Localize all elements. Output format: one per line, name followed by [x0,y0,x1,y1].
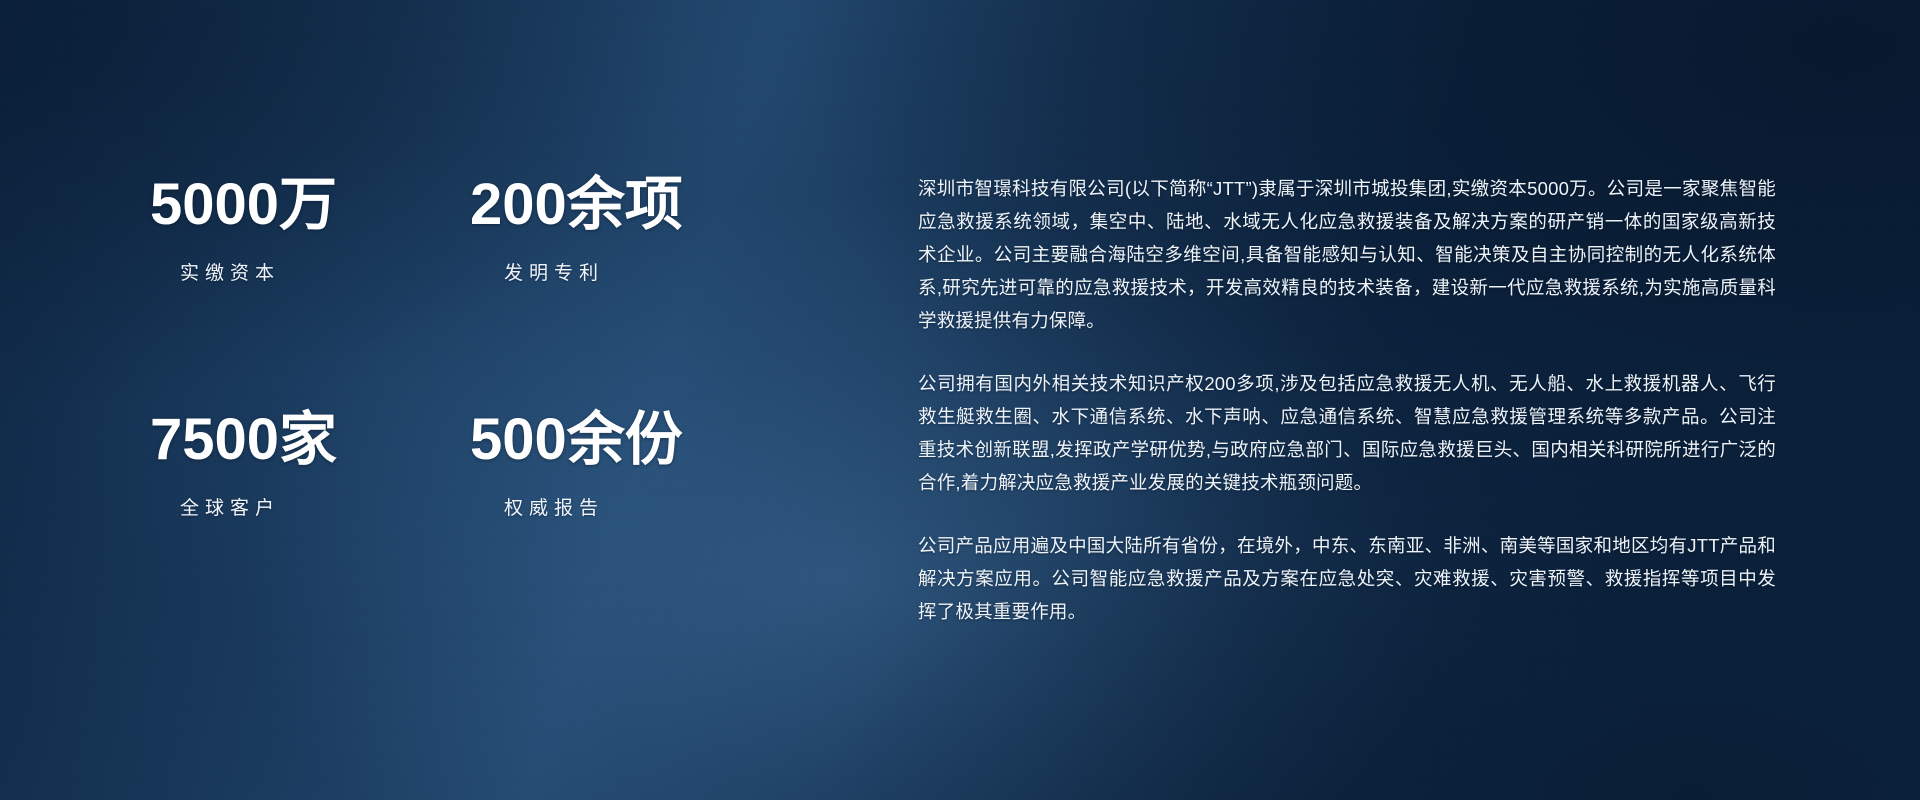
stat-value: 500余份 [470,410,790,471]
stat-authoritative-reports: 500余份 权威报告 [470,410,790,520]
description-paragraph: 公司产品应用遍及中国大陆所有省份，在境外，中东、东南亚、非洲、南美等国家和地区均… [918,529,1776,628]
stat-label: 发明专利 [470,258,790,285]
stat-label: 权威报告 [470,493,790,520]
stat-global-customers: 7500家 全球客户 [150,410,470,520]
stat-value: 5000万 [150,175,470,236]
company-description: 深圳市智璟科技有限公司(以下简称“JTT”)隶属于深圳市城投集团,实缴资本500… [918,172,1776,628]
statistics-panel: 5000万 实缴资本 200余项 发明专利 7500家 全球客户 500余份 权… [150,175,790,520]
stat-label: 实缴资本 [150,258,470,285]
stat-invention-patents: 200余项 发明专利 [470,175,790,285]
stat-paid-in-capital: 5000万 实缴资本 [150,175,470,285]
statistics-row: 7500家 全球客户 500余份 权威报告 [150,410,790,520]
description-paragraph: 深圳市智璟科技有限公司(以下简称“JTT”)隶属于深圳市城投集团,实缴资本500… [918,172,1776,337]
statistics-row: 5000万 实缴资本 200余项 发明专利 [150,175,790,285]
stat-value: 7500家 [150,410,470,471]
page-stage: 5000万 实缴资本 200余项 发明专利 7500家 全球客户 500余份 权… [0,0,1920,800]
content-area: 5000万 实缴资本 200余项 发明专利 7500家 全球客户 500余份 权… [0,0,1920,800]
stat-value: 200余项 [470,175,790,236]
description-paragraph: 公司拥有国内外相关技术知识产权200多项,涉及包括应急救援无人机、无人船、水上救… [918,367,1776,499]
stat-label: 全球客户 [150,493,470,520]
